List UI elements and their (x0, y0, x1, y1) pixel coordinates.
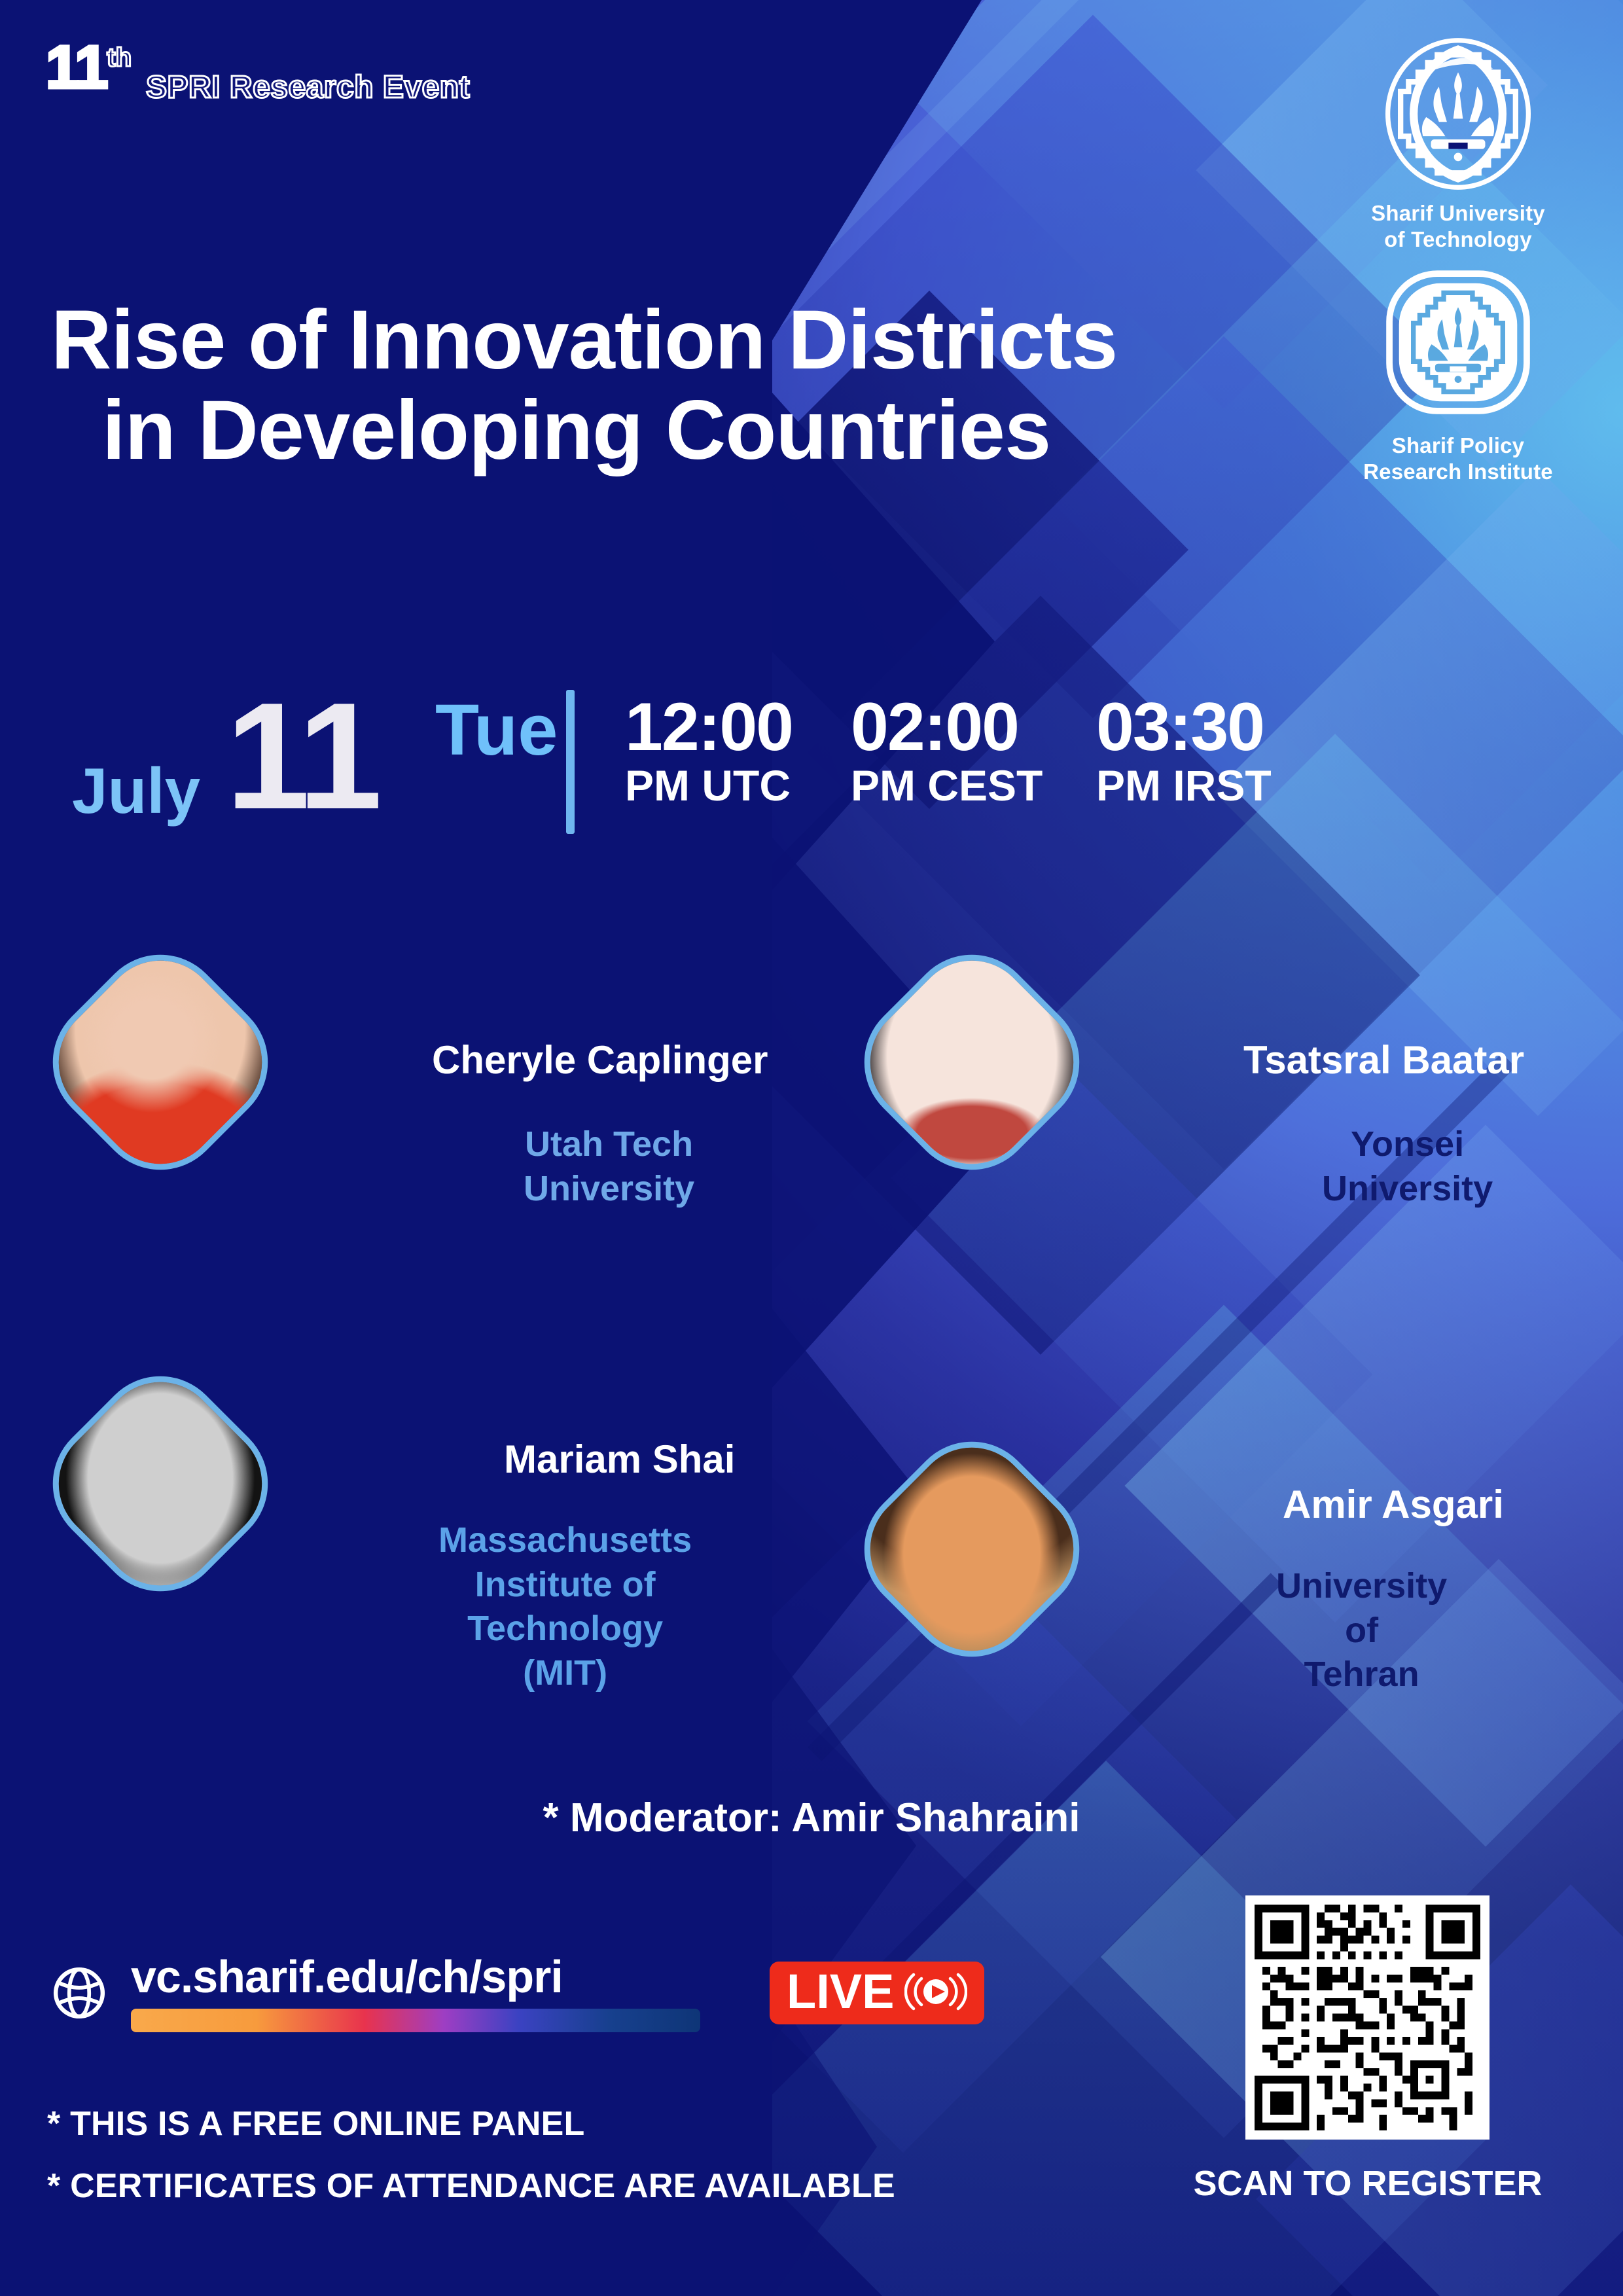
globe-icon (51, 1965, 107, 2021)
speaker-0-avatar (65, 967, 255, 1157)
time-value-irst: 03:30 (1096, 692, 1272, 762)
title-line-1: Rise of Innovation Districts (51, 293, 1117, 387)
note-certificates: * CERTIFICATES OF ATTENDANCE ARE AVAILAB… (47, 2166, 895, 2206)
event-ordinal-suffix: th (107, 43, 132, 73)
event-number: 11 (46, 41, 107, 95)
live-label: LIVE (787, 1967, 894, 2016)
time-zone-utc: PM UTC (625, 762, 793, 810)
speaker-1-name: Tsatsral Baatar (1243, 1037, 1524, 1083)
qr-code-svg (1255, 1905, 1480, 2130)
broadcast-play-icon (904, 1968, 967, 2015)
timezone-column-utc: 12:00 PM UTC (625, 692, 793, 810)
institution-logos: Sharif University of Technology Sharif P… (1321, 34, 1596, 485)
speaker-3-name: Amir Asgari (1283, 1482, 1504, 1527)
speaker-3-avatar (877, 1454, 1067, 1644)
speaker-1-avatar (877, 967, 1067, 1157)
speaker-2-name: Mariam Shai (504, 1437, 735, 1482)
speaker-2-avatar (65, 1389, 255, 1579)
event-month: July (72, 754, 200, 828)
sharif-university-seal-icon (1378, 34, 1538, 194)
poster-title: Rise of Innovation Districts in Developi… (51, 295, 1294, 476)
vertical-divider (566, 690, 575, 834)
moderator-line: * Moderator: Amir Shahraini (0, 1795, 1623, 1841)
timezone-column-cest: 02:00 PM CEST (851, 692, 1043, 810)
stream-url-block[interactable]: vc.sharif.edu/ch/spri (131, 1954, 700, 2032)
time-value-utc: 12:00 (625, 692, 793, 762)
speaker-2-affiliation: Massachusetts Institute of Technology (M… (438, 1518, 692, 1695)
event-weekday: Tue (435, 689, 558, 772)
qr-caption: SCAN TO REGISTER (1152, 2163, 1584, 2204)
time-zone-irst: PM IRST (1096, 762, 1272, 810)
event-series-badge: 11 th SPRI Research Event (46, 41, 470, 105)
time-value-cest: 02:00 (851, 692, 1043, 762)
timezone-column-irst: 03:30 PM IRST (1096, 692, 1272, 810)
live-badge: LIVE (770, 1962, 984, 2024)
logo-1-line-1: Sharif Policy (1321, 433, 1596, 459)
title-line-2: in Developing Countries (51, 386, 1294, 476)
event-poster: 11 th SPRI Research Event Rise of Innova… (0, 0, 1623, 2296)
speaker-0-name: Cheryle Caplinger (432, 1037, 768, 1083)
event-day: 11 (226, 681, 378, 833)
stream-url[interactable]: vc.sharif.edu/ch/spri (131, 1954, 700, 2000)
speaker-0-affiliation: Utah Tech University (524, 1122, 694, 1211)
logo-0-line-1: Sharif University (1321, 200, 1596, 226)
event-series-label: SPRI Research Event (146, 69, 470, 105)
logo-0-caption: Sharif University of Technology (1321, 200, 1596, 253)
stream-link-row: vc.sharif.edu/ch/spri LIVE (51, 1954, 984, 2032)
speaker-3-affiliation: University of Tehran (1276, 1564, 1447, 1697)
logo-0-line-2: of Technology (1321, 226, 1596, 253)
url-underline-gradient (131, 2009, 700, 2032)
logo-1-caption: Sharif Policy Research Institute (1321, 433, 1596, 486)
qr-code[interactable] (1245, 1895, 1489, 2140)
speaker-1-affiliation: Yonsei University (1322, 1122, 1493, 1211)
logo-1-line-2: Research Institute (1321, 459, 1596, 485)
time-zone-cest: PM CEST (851, 762, 1043, 810)
note-free-panel: * THIS IS A FREE ONLINE PANEL (47, 2104, 585, 2144)
sharif-policy-research-institute-seal-icon (1378, 262, 1538, 422)
event-datetime: July 11 Tue 12:00 PM UTC 02:00 PM CEST 0… (72, 674, 1577, 851)
